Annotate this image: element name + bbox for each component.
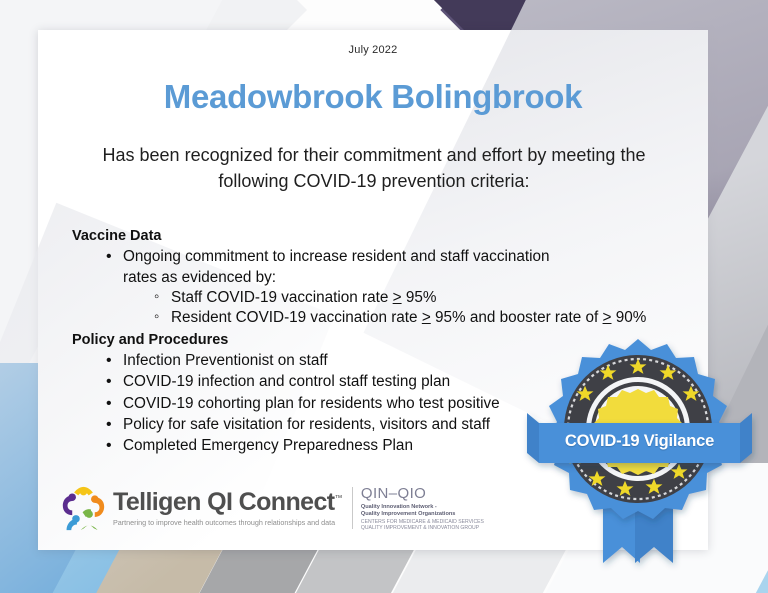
bullet-text: COVID-19 infection and control staff tes… xyxy=(123,373,450,390)
bullet-text: Completed Emergency Preparedness Plan xyxy=(123,437,413,454)
certificate-slide: July 2022 Meadowbrook Bolingbrook Has be… xyxy=(0,0,768,593)
certificate-subtitle: Has been recognized for their commitment… xyxy=(100,143,648,194)
bullet-text: Infection Preventionist on staff xyxy=(123,352,328,369)
badge-graphic xyxy=(527,337,752,567)
telligen-wordmark: Telligen QI Connect™ Partnering to impro… xyxy=(113,490,342,527)
list-item: Resident COVID-19 vaccination rate > 95%… xyxy=(154,308,692,328)
qin-qio-logo: QIN–QIO Quality Innovation Network - Qua… xyxy=(361,485,484,532)
subbullet-suffix: 95% xyxy=(402,289,437,306)
bullet-text: Policy for safe visitation for residents… xyxy=(123,416,490,433)
recipient-name: Meadowbrook Bolingbrook xyxy=(38,78,708,116)
telligen-name: Telligen QI Connect™ xyxy=(113,490,342,515)
greater-equal-symbol: > xyxy=(422,309,431,326)
subbullet-prefix: Staff COVID-19 vaccination rate xyxy=(171,289,393,306)
section-heading-vaccine-data: Vaccine Data xyxy=(72,227,692,246)
list-item: Staff COVID-19 vaccination rate > 95% xyxy=(154,288,692,308)
greater-equal-symbol: > xyxy=(393,289,402,306)
list-item: Ongoing commitment to increase resident … xyxy=(106,247,692,328)
certificate-date: July 2022 xyxy=(38,44,708,56)
qin-qio-name: QIN–QIO xyxy=(361,486,484,501)
qin-qio-line2: Quality Improvement Organizations xyxy=(361,511,484,518)
covid-19-vigilance-badge: COVID-19 Vigilance xyxy=(527,337,752,567)
telligen-logo: Telligen QI Connect™ Partnering to impro… xyxy=(60,485,342,532)
subbullet-suffix: 90% xyxy=(611,309,646,326)
logo-divider xyxy=(352,487,353,529)
qin-qio-line1: Quality Innovation Network - xyxy=(361,504,484,511)
vaccine-data-subbullets: Staff COVID-19 vaccination rate > 95% Re… xyxy=(123,288,692,329)
telligen-tagline: Partnering to improve health outcomes th… xyxy=(113,518,342,527)
telligen-people-icon xyxy=(60,485,107,532)
subbullet-prefix: Resident COVID-19 vaccination rate xyxy=(171,309,422,326)
qin-qio-line3: CENTERS FOR MEDICARE & MEDICAID SERVICES xyxy=(361,519,484,526)
vaccine-data-bullets: Ongoing commitment to increase resident … xyxy=(72,247,692,328)
trademark-symbol: ™ xyxy=(335,494,342,503)
bullet-text: Ongoing commitment to increase resident … xyxy=(123,247,553,288)
bullet-text: COVID-19 cohorting plan for residents wh… xyxy=(123,395,500,412)
logo-lockup: Telligen QI Connect™ Partnering to impro… xyxy=(60,485,484,532)
qin-qio-line4: QUALITY IMPROVEMENT & INNOVATION GROUP xyxy=(361,525,484,532)
subbullet-middle: 95% and booster rate of xyxy=(431,309,603,326)
